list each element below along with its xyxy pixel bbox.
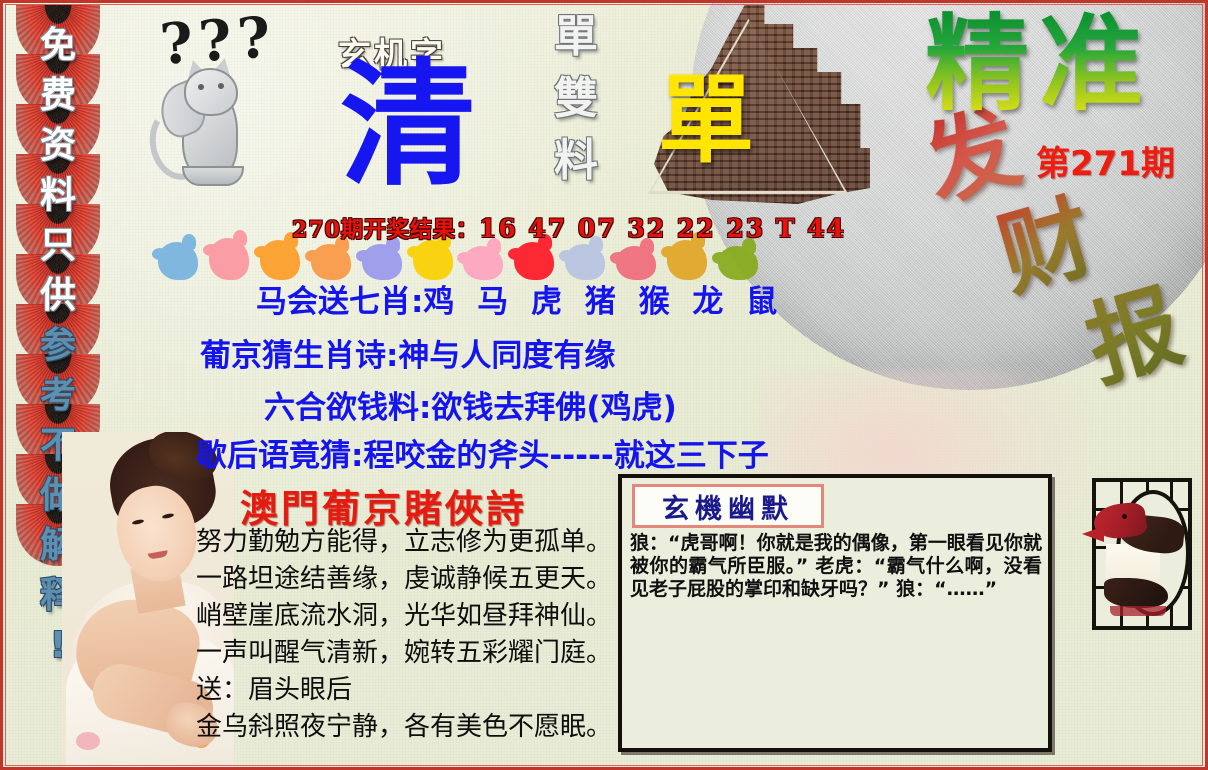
zodiac-animal-snake — [718, 246, 758, 280]
info-line-value: 程咬金的斧头-----就这三下子 — [363, 438, 768, 474]
zodiac-animal-boar — [616, 246, 656, 280]
banner-char: 参 — [16, 324, 100, 368]
info-line-yuqianliao: 六合欲钱料:欲钱去拜佛(鸡虎) — [264, 382, 677, 427]
winged-cat-icon — [148, 58, 254, 186]
bird-beak — [1082, 526, 1104, 542]
danshuang-label: 單 雙 料 — [552, 6, 600, 192]
rooster-lattice-icon — [1092, 478, 1192, 630]
xuanjizi-value: 清 — [340, 58, 476, 194]
banner-char: 只 — [16, 224, 100, 268]
pyramid-value: 單 — [658, 72, 754, 168]
info-line-shengxiaoshi: 葡京猜生肖诗:神与人同度有缘 — [200, 330, 615, 375]
info-line-qixiao: 马会送七肖:鸡 马 虎 猪 猴 龙 鼠 — [256, 276, 783, 321]
banner-char: 免 — [16, 24, 100, 68]
poem-line: 金乌斜照夜宁静，各有美色不愿眠。 — [196, 709, 616, 746]
zodiac-animal-ox — [514, 242, 554, 280]
dress-flower — [76, 732, 100, 750]
bird-eye — [1122, 514, 1127, 519]
page-title: 精准 — [925, 8, 1153, 120]
poem-line: 峭壁崖底流水洞，光华如昼拜神仙。 — [196, 598, 616, 635]
cat-eye — [198, 84, 204, 90]
info-line-xiehouyu: 歇后语竟猜:程咬金的斧头-----就这三下子 — [196, 430, 769, 475]
banner-char: 料 — [16, 174, 100, 218]
poem-line: 一路坦途结善缘，虔诚静候五更天。 — [196, 561, 616, 598]
zodiac-animal-rooster — [667, 240, 707, 280]
joke-text: 狼：“虎哥啊！你就是我的偶像，第一眼看见你就被你的霸气所臣服。” 老虎：“霸气什… — [630, 532, 1042, 601]
draw-result-line: 270期开奖结果：16 47 07 32 22 23 T 44 — [292, 212, 846, 244]
info-line-value: 欲钱去拜佛(鸡虎) — [431, 390, 676, 426]
bird-base — [1110, 606, 1166, 616]
danshuang-char: 料 — [552, 130, 600, 192]
issue-number: 第271期 — [1036, 136, 1175, 185]
poem-line: 一声叫醒气清新，婉转五彩耀门庭。 — [196, 635, 616, 672]
banner-char: 资 — [16, 124, 100, 168]
banner-char: 费 — [16, 74, 100, 118]
cat-legs — [182, 166, 244, 186]
zodiac-animal-horse — [413, 240, 453, 280]
cat-head — [184, 68, 238, 116]
draw-result-label: 270期开奖结果： — [292, 217, 479, 243]
poem-line: 努力勤勉方能得，立志修为更孤单。 — [196, 524, 616, 561]
poem-body: 努力勤勉方能得，立志修为更孤单。 一路坦途结善缘，虔诚静候五更天。 峭壁崖底流水… — [196, 524, 616, 746]
zodiac-animal-rat — [158, 242, 198, 280]
banner-char: 考 — [16, 374, 100, 418]
cat-eye — [218, 83, 224, 89]
danshuang-char: 雙 — [552, 68, 600, 130]
info-line-value: 鸡 马 虎 猪 猴 龙 鼠 — [423, 284, 783, 320]
danshuang-char: 單 — [552, 6, 600, 68]
banner-char: 供 — [16, 274, 100, 318]
newspaper-page: 免 费 资 料 只 供 参 考 不 做 解 释 ! ?? — [0, 0, 1208, 770]
zodiac-animal-tiger — [311, 244, 351, 280]
joke-box: 玄機幽默 狼：“虎哥啊！你就是我的偶像，第一眼看见你就被你的霸气所臣服。” 老虎… — [618, 474, 1052, 752]
zodiac-animal-dog — [565, 244, 605, 280]
info-line-label: 马会送七肖: — [256, 284, 423, 320]
draw-result-numbers: 16 47 07 32 22 23 T 44 — [479, 214, 846, 243]
zodiac-animal-pig — [463, 246, 503, 280]
info-line-label: 葡京猜生肖诗: — [200, 338, 398, 374]
zodiac-animal-monkey — [209, 238, 249, 280]
joke-header-label: 玄機幽默 — [662, 487, 794, 526]
info-line-label: 六合欲钱料: — [264, 390, 431, 426]
info-line-value: 神与人同度有缘 — [398, 338, 615, 374]
zodiac-animal-dragon — [260, 240, 300, 280]
poem-line: 送：眉头眼后 — [196, 672, 616, 709]
joke-header-box: 玄機幽默 — [632, 484, 824, 528]
info-line-label: 歇后语竟猜: — [196, 438, 363, 474]
zodiac-animal-rabbit — [362, 244, 402, 280]
